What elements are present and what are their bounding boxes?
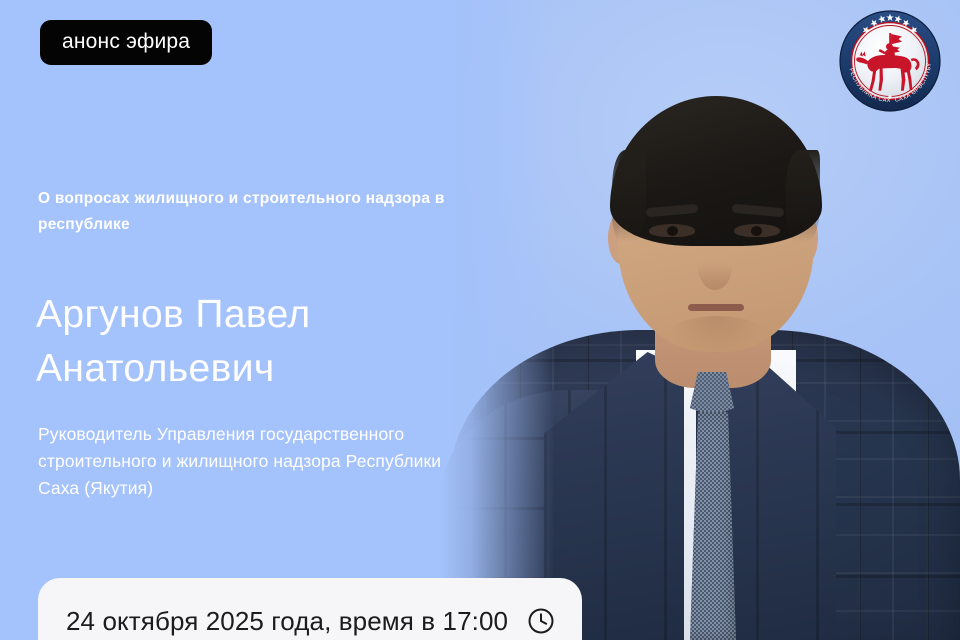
nose: [698, 244, 732, 290]
pupil-left: [667, 226, 678, 236]
broadcast-datetime-text: 24 октября 2025 года, время в 17:00: [66, 606, 508, 637]
broadcast-topic: О вопросах жилищного и строительного над…: [38, 186, 508, 238]
hair-side-left: [612, 150, 646, 242]
clock-icon: [526, 606, 556, 636]
pupil-right: [751, 226, 762, 236]
mouth: [688, 304, 744, 311]
chin: [666, 316, 768, 356]
hair-side-right: [786, 150, 820, 242]
necktie-knot: [690, 372, 734, 416]
coat-of-arms-sakha-yakutia-icon: РЕСПУБЛИКА САХА (ЯКУТИЯ) САХА ӨРӨСПҮҮБҮЛ…: [838, 9, 942, 113]
speaker-name: Аргунов Павел Анатольевич: [36, 288, 466, 396]
speaker-position: Руководитель Управления государственного…: [38, 421, 468, 502]
announcement-badge: анонс эфира: [40, 20, 212, 65]
broadcast-announcement-poster: РЕСПУБЛИКА САХА (ЯКУТИЯ) САХА ӨРӨСПҮҮБҮЛ…: [0, 0, 960, 640]
broadcast-datetime-chip: 24 октября 2025 года, время в 17:00: [38, 578, 582, 640]
